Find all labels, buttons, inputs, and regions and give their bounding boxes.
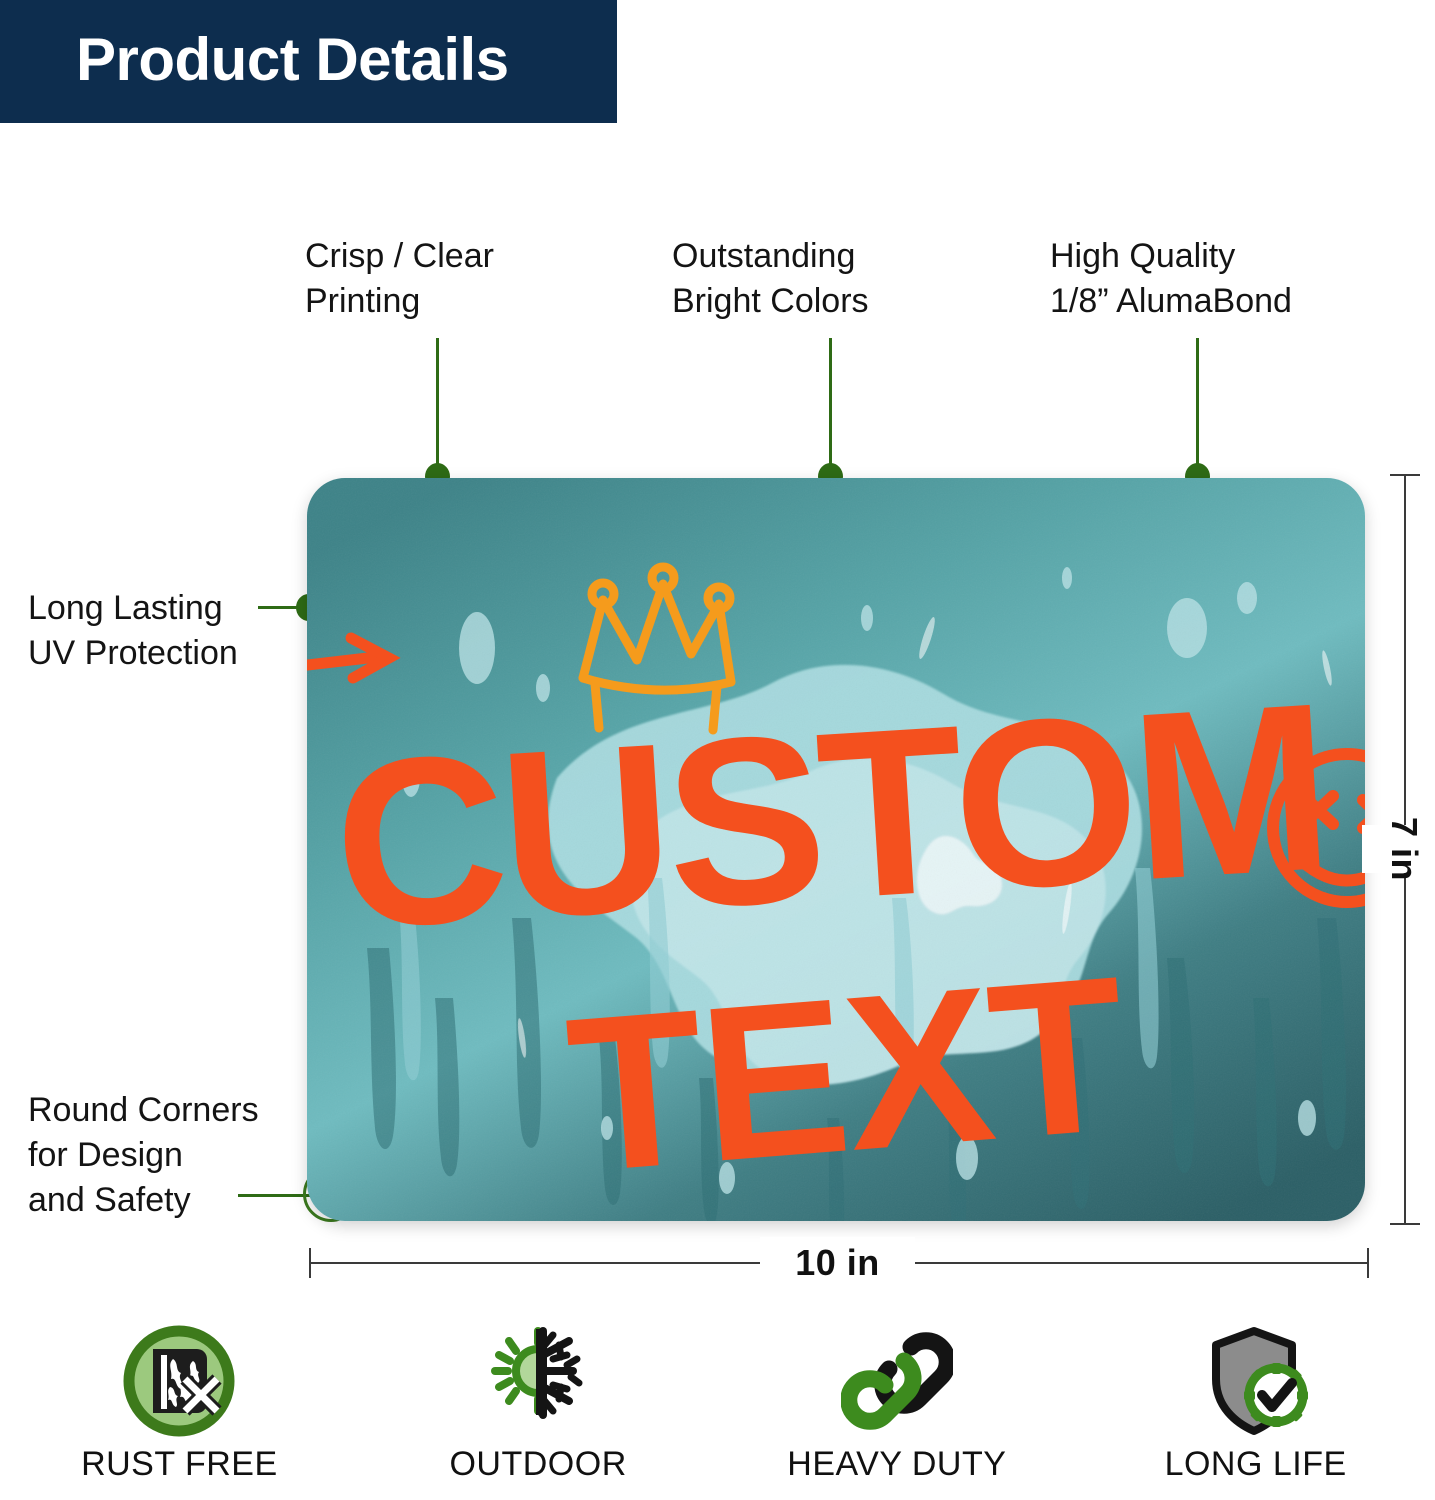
callout-round-corners: Round Corners for Design and Safety: [28, 1088, 318, 1224]
leader-line-round-corners: [238, 1194, 310, 1197]
shield-clock-check-icon: [1200, 1325, 1312, 1437]
feature-outdoor: OUTDOOR: [359, 1325, 718, 1500]
feature-rust-free: RUST FREE: [0, 1325, 359, 1500]
callout-long-lasting-uv-protection: Long Lasting UV Protection: [28, 586, 298, 676]
dimension-label-width-wrap: 10 in: [760, 1237, 915, 1289]
callout-outstanding-bright-colors: Outstanding Bright Colors: [672, 234, 1002, 324]
callout-high-quality-alumabond: High Quality 1/8” AlumaBond: [1050, 234, 1390, 324]
feature-badges: RUST FREE: [0, 1325, 1435, 1500]
dimension-cap-width-left: [309, 1248, 311, 1278]
feature-long-life: LONG LIFE: [1076, 1325, 1435, 1500]
dimension-cap-width-right: [1367, 1248, 1369, 1278]
feature-label-long-life: LONG LIFE: [1165, 1445, 1347, 1484]
feature-label-rust-free: RUST FREE: [81, 1445, 278, 1484]
page-title: Product Details: [0, 30, 509, 90]
leader-line-outstanding-bright-colors: [829, 338, 832, 472]
sign-text-text: TEXT: [560, 930, 1132, 1219]
feature-label-outdoor: OUTDOOR: [449, 1445, 626, 1484]
dimension-label-height: 7 in: [1383, 817, 1425, 881]
dimension-cap-height-bottom: [1390, 1223, 1420, 1225]
product-details-infographic: Product Details Crisp / Clear Printing O…: [0, 0, 1435, 1500]
chain-link-icon: [841, 1325, 953, 1437]
callout-crisp-clear-printing: Crisp / Clear Printing: [305, 234, 605, 324]
header-banner: Product Details: [0, 0, 617, 123]
feature-heavy-duty: HEAVY DUTY: [718, 1325, 1077, 1500]
sun-snowflake-icon: [479, 1325, 597, 1437]
feature-label-heavy-duty: HEAVY DUTY: [787, 1445, 1006, 1484]
leader-line-high-quality-alumabond: [1196, 338, 1199, 472]
product-sign: CUSTOM TEXT: [307, 478, 1365, 1221]
sign-artwork: CUSTOM TEXT: [307, 478, 1365, 1221]
dimension-label-width: 10 in: [795, 1242, 880, 1284]
rust-free-icon: [123, 1325, 235, 1437]
leader-line-crisp-clear-printing: [436, 338, 439, 472]
dimension-cap-height-top: [1390, 474, 1420, 476]
